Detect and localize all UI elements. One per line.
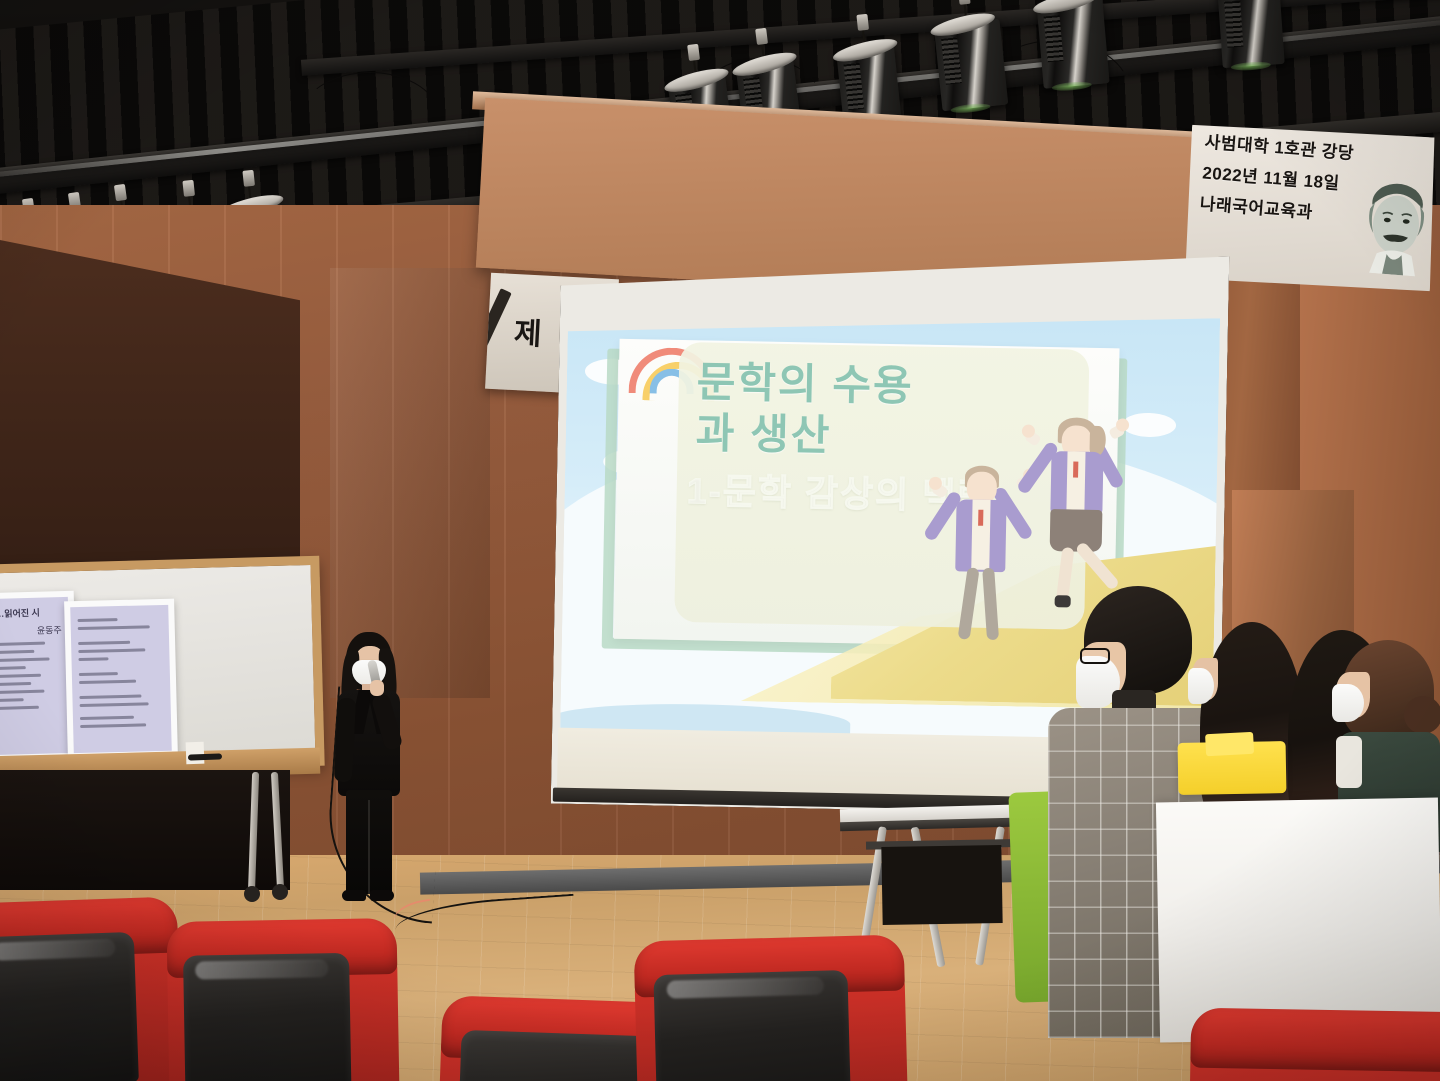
slide-title: 문학의 수용 과 생산	[695, 356, 1087, 466]
yellow-bag	[1178, 741, 1287, 795]
slide-figure-girl	[1035, 417, 1155, 609]
presenter-shoe	[370, 890, 394, 901]
light-clamp	[755, 28, 768, 45]
auditorium-seat	[166, 918, 399, 1081]
figure-tie	[978, 510, 983, 526]
auditorium-photo: 제 4 사범대학 1호관 강당 2022년 11월 18일 나래국어교육과	[0, 0, 1440, 1081]
figure-tie	[1073, 462, 1078, 478]
poster-sheet: …읽어진 시 윤동주	[0, 597, 72, 755]
handwritten-line	[80, 716, 134, 720]
poster-sheet	[70, 605, 172, 753]
figure-shirt	[1066, 451, 1085, 509]
handwritten-line	[0, 682, 32, 686]
handwritten-line	[0, 657, 49, 661]
handwritten-line	[0, 690, 44, 694]
light-clamp	[182, 180, 195, 197]
auditorium-seat	[634, 934, 909, 1081]
seat-headrest	[1190, 1008, 1440, 1073]
handwritten-line	[79, 695, 141, 700]
attendee-hair-bun	[1404, 696, 1440, 734]
stage-light	[1036, 0, 1109, 89]
presenter-shoe	[342, 890, 366, 901]
presenter-trousers	[346, 790, 392, 894]
caster-wheel	[272, 884, 288, 900]
handwritten-line	[78, 648, 145, 653]
presenter-hand	[370, 680, 384, 696]
handwritten-line	[78, 657, 108, 661]
light-clamp	[856, 14, 869, 31]
stage-light	[934, 19, 1009, 111]
seat-back-shine	[195, 959, 329, 979]
handwritten-line	[80, 723, 146, 728]
poster-author: 윤동주	[0, 623, 62, 638]
light-clamp	[242, 170, 255, 187]
figure-skirt	[1050, 509, 1103, 552]
marker-pen	[188, 753, 222, 760]
attendee-face-mask	[1188, 668, 1214, 704]
auditorium-seat	[1189, 1008, 1440, 1081]
attendee-collar	[1336, 736, 1362, 788]
light-clamp	[114, 184, 127, 201]
pencil-icon	[485, 288, 512, 371]
handwritten-line	[78, 641, 130, 645]
scholar-portrait-icon	[1357, 170, 1435, 277]
audience-table	[1156, 798, 1440, 1043]
handwritten-line	[0, 706, 39, 710]
handwritten-line	[80, 702, 149, 707]
light-clamp	[687, 44, 700, 61]
handwritten-line	[79, 672, 118, 676]
poem-poster-right	[64, 599, 178, 760]
eraser	[186, 742, 205, 765]
seat-back	[456, 1030, 663, 1081]
handwritten-line	[0, 698, 24, 702]
presenter	[330, 632, 408, 912]
attendee-face-mask	[1332, 684, 1364, 722]
auditorium-seat	[0, 896, 183, 1081]
figure-leg	[958, 567, 980, 640]
slide-title-line1: 문학의 수용	[696, 356, 1087, 415]
handwritten-line	[78, 618, 118, 622]
handwritten-line	[0, 666, 26, 670]
banner-line-venue: 사범대학 1호관 강당	[1204, 133, 1429, 168]
poster-title: …읽어진 시	[0, 605, 61, 620]
handwritten-line	[0, 642, 45, 646]
handwritten-line	[79, 680, 136, 684]
handwritten-line	[0, 674, 41, 678]
table-shadow-panel	[881, 845, 1002, 925]
handwritten-line	[78, 625, 150, 630]
caster-wheel	[244, 886, 260, 902]
handwritten-line	[0, 650, 35, 654]
desk-under-whiteboard	[0, 770, 290, 890]
figure-hand	[1116, 418, 1129, 431]
light-vents	[1224, 1, 1243, 48]
figure-leg	[982, 568, 999, 641]
glasses-icon	[1080, 648, 1110, 664]
stage-light	[1217, 0, 1284, 68]
